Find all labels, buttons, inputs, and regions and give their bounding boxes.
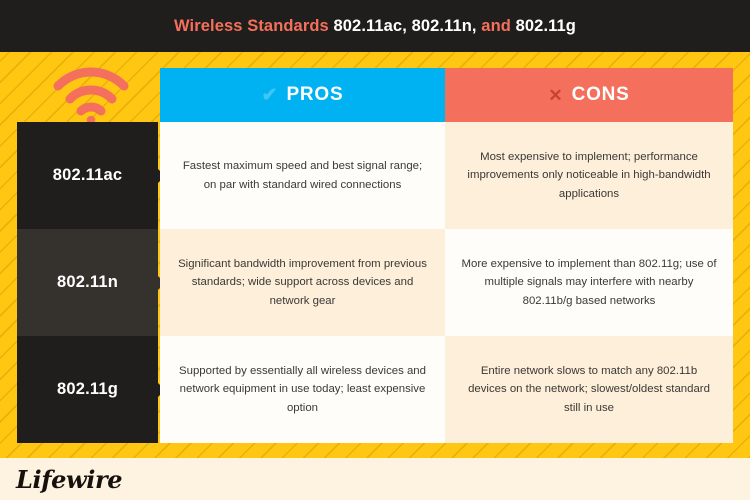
standard-name: 802.11g	[57, 380, 118, 399]
pros-text: Fastest maximum speed and best signal ra…	[176, 157, 429, 194]
pros-text: Supported by essentially all wireless de…	[176, 362, 429, 417]
cons-cell: Most expensive to implement; performance…	[445, 122, 733, 229]
standard-name: 802.11ac	[53, 166, 123, 185]
column-header-pros: ✔ PROS	[160, 68, 445, 122]
column-header-cons: ✕ CONS	[445, 68, 733, 122]
header-label-spacer	[17, 68, 158, 122]
infographic-canvas: Wireless Standards 802.11ac, 802.11n, an…	[0, 0, 750, 500]
row-label-cell: 802.11n	[17, 229, 158, 336]
table-row: 802.11n Significant bandwidth improvemen…	[17, 229, 733, 336]
footer-bar: Lifewire	[0, 458, 750, 500]
title-bar: Wireless Standards 802.11ac, 802.11n, an…	[0, 0, 750, 52]
pros-cell: Supported by essentially all wireless de…	[160, 336, 445, 443]
table-header-row: ✔ PROS ✕ CONS	[17, 68, 733, 122]
cons-text: Entire network slows to match any 802.11…	[461, 362, 717, 417]
page-title: Wireless Standards 802.11ac, 802.11n, an…	[174, 17, 576, 36]
column-header-pros-label: PROS	[286, 84, 343, 106]
title-part-plain-2: 802.11g	[516, 17, 576, 35]
cross-icon: ✕	[548, 87, 562, 104]
check-icon: ✔	[262, 86, 278, 105]
cons-text: More expensive to implement than 802.11g…	[461, 255, 717, 310]
cons-text: Most expensive to implement; performance…	[461, 148, 717, 203]
standard-name: 802.11n	[57, 273, 118, 292]
column-header-cons-label: CONS	[572, 84, 630, 106]
title-part-accent-2: and	[477, 17, 516, 35]
title-part-plain-1: 802.11ac, 802.11n,	[334, 17, 477, 35]
row-label-cell: 802.11ac	[17, 122, 158, 229]
title-part-accent-1: Wireless Standards	[174, 17, 333, 35]
cons-cell: Entire network slows to match any 802.11…	[445, 336, 733, 443]
table-row: 802.11g Supported by essentially all wir…	[17, 336, 733, 443]
lifewire-logo: Lifewire	[16, 465, 122, 494]
pros-text: Significant bandwidth improvement from p…	[176, 255, 429, 310]
cons-cell: More expensive to implement than 802.11g…	[445, 229, 733, 336]
comparison-table: ✔ PROS ✕ CONS 802.11ac Fastest maximum s…	[17, 68, 733, 443]
row-label-cell: 802.11g	[17, 336, 158, 443]
table-row: 802.11ac Fastest maximum speed and best …	[17, 122, 733, 229]
pros-cell: Significant bandwidth improvement from p…	[160, 229, 445, 336]
pros-cell: Fastest maximum speed and best signal ra…	[160, 122, 445, 229]
